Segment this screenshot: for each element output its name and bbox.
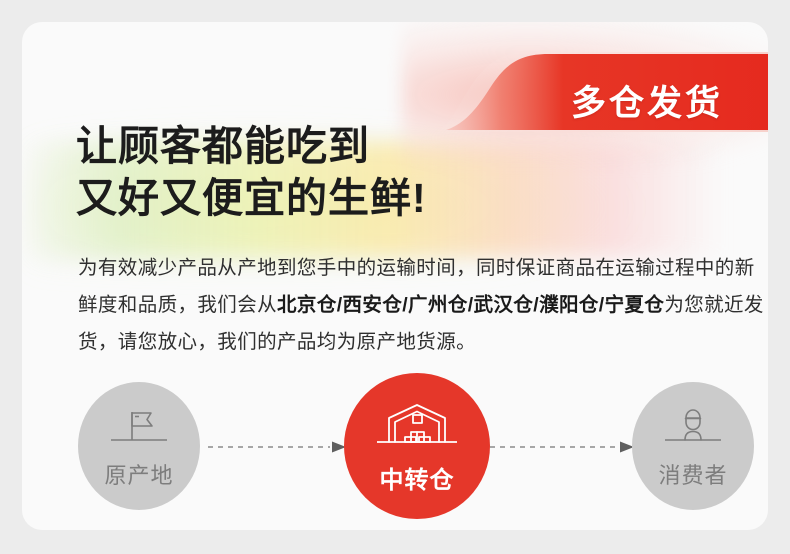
banner-label: 多仓发货 — [522, 86, 768, 121]
flow-node-origin-label: 原产地 — [104, 465, 173, 487]
flag-icon — [106, 406, 172, 455]
flow-arrow-1 — [208, 440, 350, 452]
flow-node-consumer-label: 消费者 — [658, 465, 727, 487]
flow-node-transit-label: 中转仓 — [380, 469, 455, 493]
headline-line-2: 又好又便宜的生鲜! — [76, 172, 556, 224]
person-icon — [660, 406, 726, 455]
headline-line-1: 让顾客都能吃到 — [76, 120, 556, 172]
flow-node-origin: 原产地 — [78, 382, 200, 510]
warehouse-icon — [375, 400, 459, 457]
warehouse-list: 北京仓/西安仓/广州仓/武汉仓/濮阳仓/宁夏仓 — [277, 294, 664, 316]
promo-page: 多仓发货 让顾客都能吃到 又好又便宜的生鲜! 为有效减少产品从产地到您手中的运输… — [0, 0, 790, 554]
body-paragraph: 为有效减少产品从产地到您手中的运输时间，同时保证商品在运输过程中的新鲜度和品质，… — [78, 250, 768, 361]
flow-node-consumer: 消费者 — [632, 382, 754, 510]
promo-card: 多仓发货 让顾客都能吃到 又好又便宜的生鲜! 为有效减少产品从产地到您手中的运输… — [22, 22, 768, 530]
delivery-flow-diagram: 原产地 — [72, 382, 762, 510]
flow-node-transit-warehouse: 中转仓 — [344, 373, 490, 519]
page-title: 让顾客都能吃到 又好又便宜的生鲜! — [76, 120, 556, 224]
flow-arrow-2 — [490, 440, 638, 452]
